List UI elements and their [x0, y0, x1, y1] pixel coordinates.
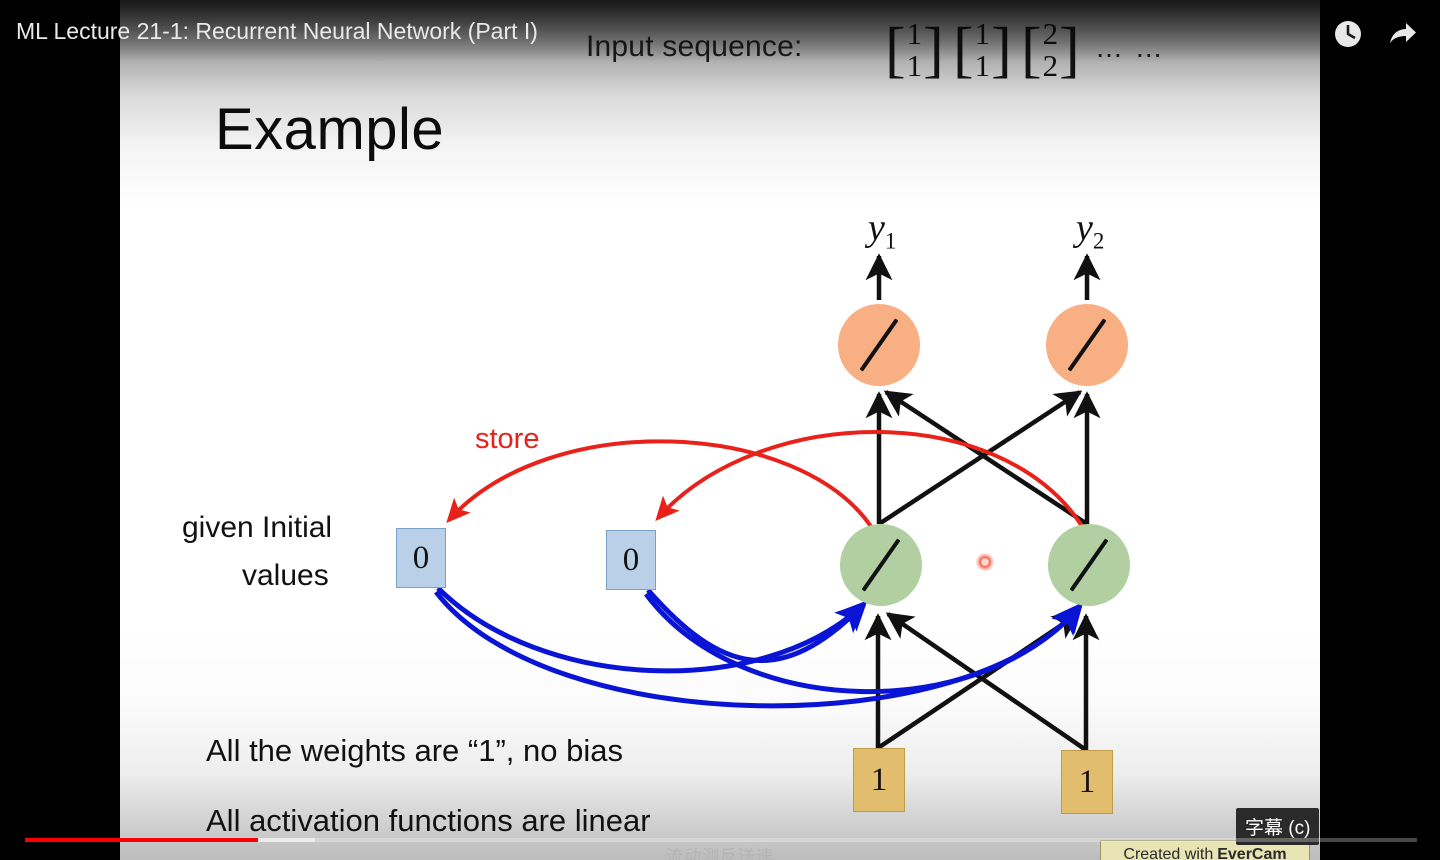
store-label: store — [475, 423, 539, 456]
recall-curves — [436, 588, 1080, 706]
video-player: Input sequence: [ 1 1 ] [ 1 1 ] [ 2 2 ] — [0, 0, 1440, 860]
output-label-y2: y2 — [1076, 206, 1104, 255]
given-initial-values-line2: values — [242, 559, 329, 593]
sequence-ellipsis: … … — [1095, 32, 1165, 64]
bracket-right: ] — [991, 23, 1012, 77]
matrix-cell-top: 1 — [907, 18, 923, 50]
bracket-right: ] — [1059, 23, 1080, 77]
matrix-cell-top: 1 — [975, 18, 991, 50]
memory-box-1: 0 — [396, 528, 446, 588]
bracket-left: [ — [885, 23, 906, 77]
hidden-to-output-arrows — [879, 392, 1087, 524]
output-label-base: y — [868, 207, 885, 249]
linear-activation-icon — [862, 538, 901, 591]
laser-pointer-icon — [976, 553, 994, 571]
output-label-sub: 1 — [885, 229, 897, 254]
matrix-cell-top: 2 — [1043, 18, 1059, 50]
output-label-y1: y1 — [868, 206, 896, 255]
linear-activation-icon — [1070, 538, 1109, 591]
note-activation: All activation functions are linear — [206, 803, 651, 839]
input-matrix-2: [ 1 1 ] — [953, 18, 1012, 81]
clock-icon[interactable] — [1330, 16, 1366, 52]
matrix-cell-bottom: 1 — [907, 50, 923, 82]
input-matrix-1: [ 1 1 ] — [885, 18, 944, 81]
slide-title: Example — [215, 96, 444, 163]
linear-activation-icon — [1068, 318, 1107, 371]
share-arrow-icon[interactable] — [1384, 16, 1420, 52]
store-curves — [449, 432, 1082, 528]
input-sequence-label: Input sequence: — [586, 30, 803, 64]
bracket-left: [ — [953, 23, 974, 77]
linear-activation-icon — [860, 318, 899, 371]
output-neuron-1 — [838, 304, 920, 386]
output-neuron-2 — [1046, 304, 1128, 386]
input-matrix-3: [ 2 2 ] — [1021, 18, 1080, 81]
input-box-1: 1 — [853, 748, 905, 812]
matrix-cell-bottom: 1 — [975, 50, 991, 82]
bracket-right: ] — [923, 23, 944, 77]
input-box-2: 1 — [1061, 750, 1113, 814]
output-label-sub: 2 — [1093, 229, 1105, 254]
hidden-neuron-2 — [1048, 524, 1130, 606]
given-initial-values-line1: given Initial — [182, 511, 332, 545]
bracket-left: [ — [1021, 23, 1042, 77]
video-title: ML Lecture 21-1: Recurrent Neural Networ… — [16, 18, 538, 45]
progress-bar[interactable] — [25, 838, 1417, 842]
progress-played — [25, 838, 258, 842]
slide-canvas: Input sequence: [ 1 1 ] [ 1 1 ] [ 2 2 ] — [120, 0, 1320, 860]
matrix-cell-bottom: 2 — [1043, 50, 1059, 82]
output-label-base: y — [1076, 207, 1093, 249]
watermark-prefix: Created with — [1123, 846, 1213, 860]
output-arrows — [879, 256, 1087, 300]
watermark-brand: EverCam — [1217, 846, 1286, 860]
memory-box-2: 0 — [606, 530, 656, 590]
hidden-neuron-1 — [840, 524, 922, 606]
note-weights: All the weights are “1”, no bias — [206, 733, 623, 769]
